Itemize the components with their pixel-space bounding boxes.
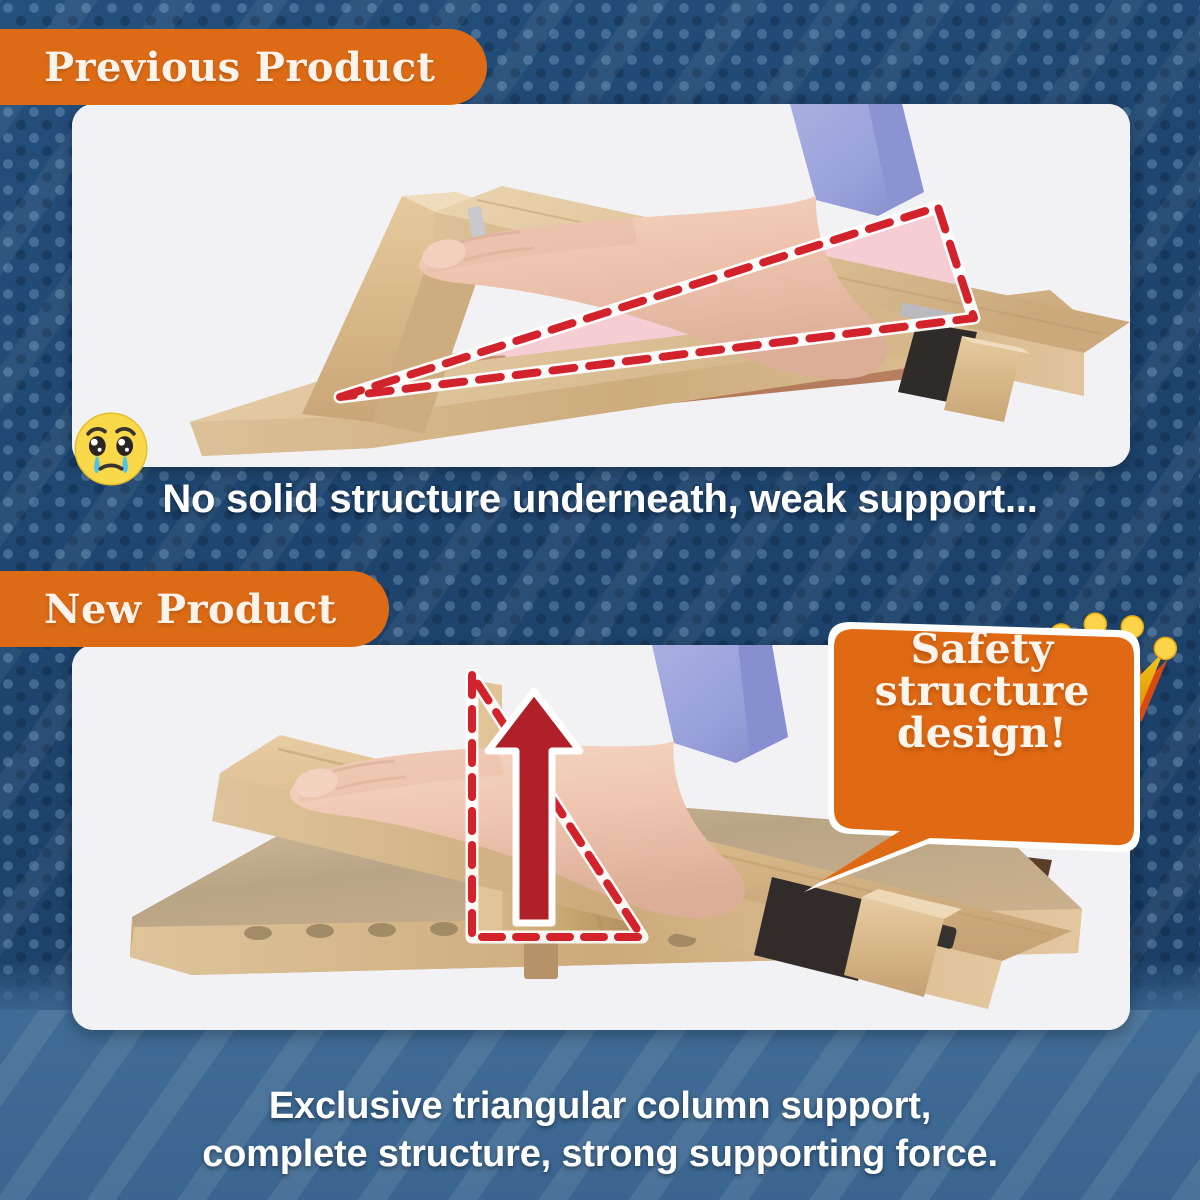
new-product-caption-line-2: complete structure, strong supporting fo… [0,1133,1200,1176]
previous-product-photo-card [72,104,1130,467]
crying-face-emoji [73,411,149,487]
new-product-caption-line-1: Exclusive triangular column support, [0,1085,1200,1128]
safety-callout: Safety structure design! [800,600,1200,900]
previous-product-photo [72,104,1130,467]
speech-bubble [800,600,1200,900]
badge-previous-product: Previous Product [0,29,487,105]
badge-new-product: New Product [0,571,389,647]
infographic-root: Previous Product New Product No solid st… [0,0,1200,1200]
badge-previous-product-label: Previous Product [44,44,435,91]
badge-new-product-label: New Product [44,586,337,633]
previous-product-caption: No solid structure underneath, weak supp… [0,477,1200,522]
